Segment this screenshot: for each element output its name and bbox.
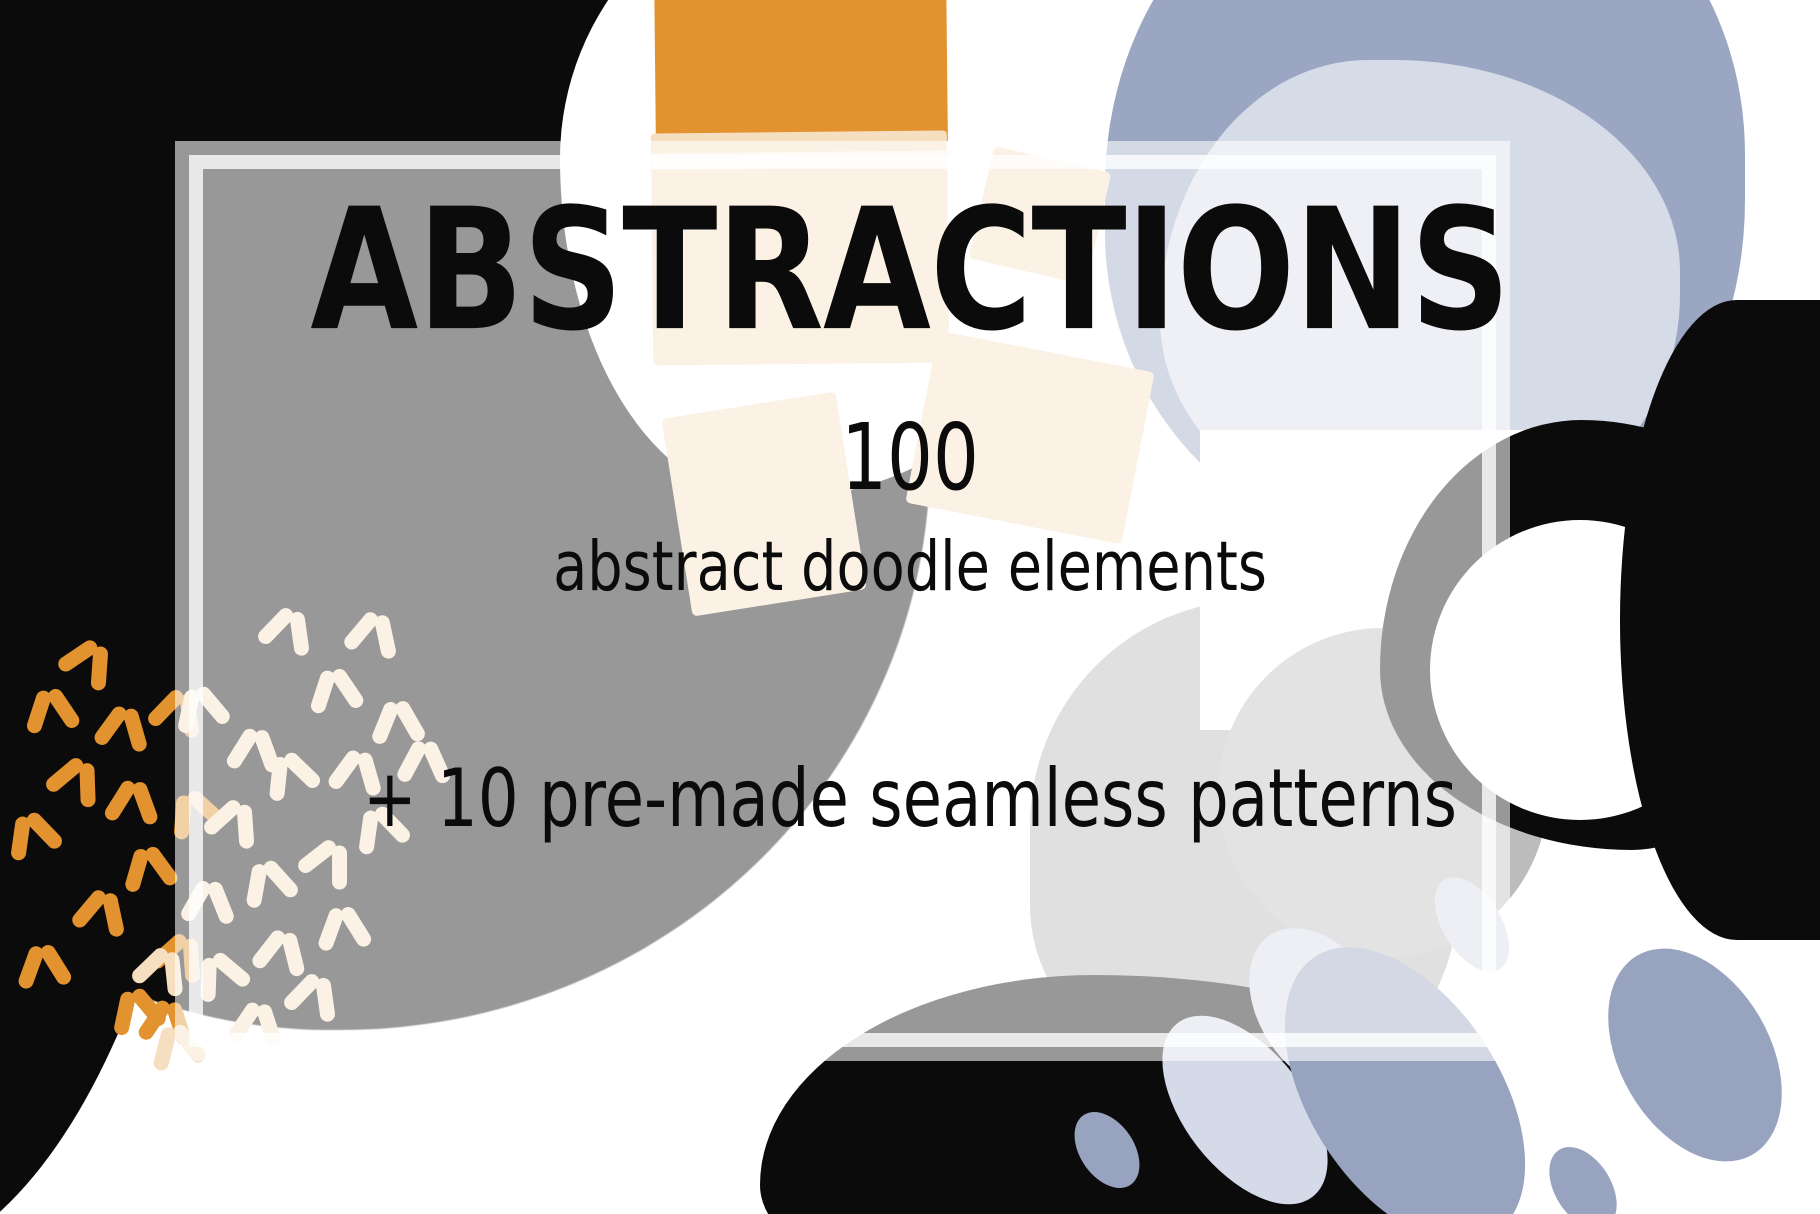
poster-canvas: ABSTRACTIONS 100 abstract doodle element… [0, 0, 1820, 1214]
poster-title: ABSTRACTIONS [64, 187, 1757, 355]
element-count: 100 [109, 413, 1711, 505]
poster-text: ABSTRACTIONS 100 abstract doodle element… [0, 0, 1820, 1214]
poster-extras: + 10 pre-made seamless patterns [100, 758, 1720, 839]
poster-tagline: abstract doodle elements [91, 533, 1729, 601]
